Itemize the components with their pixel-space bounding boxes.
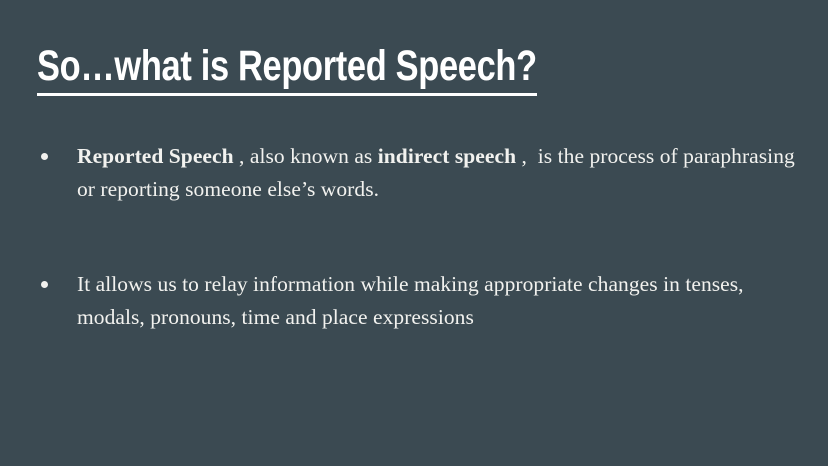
bullet-point-icon xyxy=(41,281,48,288)
list-item: It allows us to relay information while … xyxy=(37,268,807,334)
emphasized-term: indirect speech xyxy=(378,144,516,168)
title-block: So…what is Reported Speech? xyxy=(37,42,797,96)
slide-canvas: So…what is Reported Speech? Reported Spe… xyxy=(0,0,828,466)
emphasized-term: Reported Speech xyxy=(77,144,234,168)
list-item: Reported Speech , also known as indirect… xyxy=(37,140,807,206)
list-item-text: It allows us to relay information while … xyxy=(77,268,807,334)
bullet-list: Reported Speech , also known as indirect… xyxy=(37,140,807,334)
page-title: So…what is Reported Speech? xyxy=(37,42,537,96)
text-run: , also known as xyxy=(234,144,378,168)
bullet-point-icon xyxy=(41,153,48,160)
list-item-text: Reported Speech , also known as indirect… xyxy=(77,140,807,206)
text-run: It allows us to relay information while … xyxy=(77,272,749,329)
